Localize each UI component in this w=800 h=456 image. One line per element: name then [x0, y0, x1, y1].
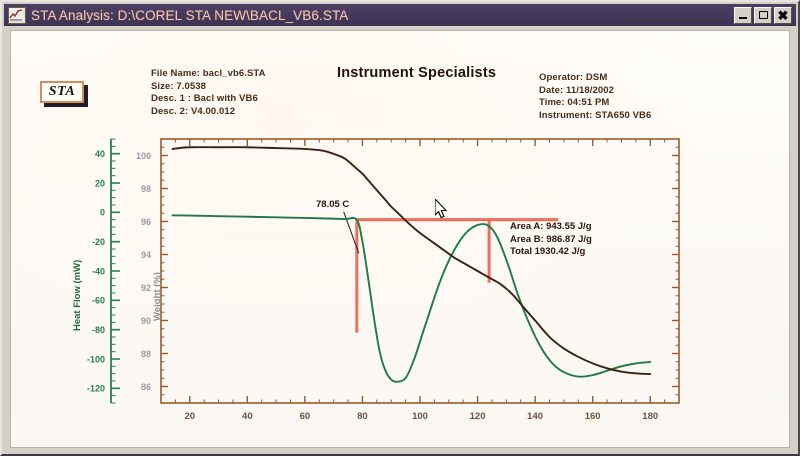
onset-temperature-label: 78.05 C [314, 199, 351, 212]
window-controls: ✖ [734, 7, 792, 24]
svg-text:20: 20 [95, 178, 105, 188]
svg-text:140: 140 [527, 411, 543, 422]
run-info-line-2: Date: 11/18/2002 [539, 85, 651, 98]
sta-logo-text: STA [49, 84, 75, 100]
minimize-icon [739, 17, 747, 19]
svg-text:96: 96 [141, 217, 151, 227]
report-canvas[interactable]: STA File Name: bacl_vb6.STA Size: 7.0538… [10, 30, 790, 448]
file-info-line-1: File Name: bacl_vb6.STA [151, 68, 266, 81]
svg-text:98: 98 [141, 184, 151, 194]
svg-text:180: 180 [642, 411, 658, 422]
svg-text:88: 88 [141, 349, 151, 359]
minimize-button[interactable] [734, 7, 752, 24]
svg-text:0: 0 [100, 208, 105, 218]
window-title: STA Analysis: D:\COREL STA NEW\BACL_VB6.… [31, 8, 734, 23]
svg-text:40: 40 [95, 149, 105, 159]
run-info-block: Operator: DSM Date: 11/18/2002 Time: 04:… [539, 72, 651, 122]
close-button[interactable]: ✖ [774, 7, 792, 24]
svg-text:100: 100 [136, 151, 151, 161]
svg-text:160: 160 [585, 411, 601, 422]
svg-text:100: 100 [412, 411, 428, 422]
svg-text:90: 90 [141, 316, 151, 326]
close-icon: ✖ [778, 9, 789, 22]
svg-text:-20: -20 [92, 237, 105, 247]
file-info-block: File Name: bacl_vb6.STA Size: 7.0538 Des… [151, 68, 266, 118]
svg-text:40: 40 [242, 411, 253, 422]
chart-app-icon [8, 7, 26, 24]
maximize-button[interactable] [754, 7, 772, 24]
file-info-line-4: Desc. 2: V4.00.012 [151, 106, 266, 119]
weight-axis-title: Weight (%) [152, 272, 163, 321]
file-info-line-3: Desc. 1 : Bacl with VB6 [151, 93, 266, 106]
svg-text:-60: -60 [92, 296, 105, 306]
svg-text:20: 20 [184, 411, 195, 422]
area-readout-block: Area A: 943.55 J/g Area B: 986.87 J/g To… [510, 221, 592, 259]
sta-analysis-window: STA Analysis: D:\COREL STA NEW\BACL_VB6.… [0, 0, 800, 456]
area-b-value: Area B: 986.87 J/g [510, 234, 592, 247]
svg-text:-40: -40 [92, 266, 105, 276]
area-a-value: Area A: 943.55 J/g [510, 221, 592, 234]
svg-text:94: 94 [141, 250, 151, 260]
report-title: Instrument Specialists [337, 65, 496, 81]
svg-text:92: 92 [141, 283, 151, 293]
file-info-line-2: Size: 7.0538 [151, 81, 266, 94]
sta-logo-face: STA [40, 81, 84, 103]
svg-text:60: 60 [300, 411, 311, 422]
run-info-line-4: Instrument: STA650 VB6 [539, 110, 651, 123]
area-total-value: Total 1930.42 J/g [510, 246, 592, 259]
svg-text:120: 120 [470, 411, 486, 422]
title-bar[interactable]: STA Analysis: D:\COREL STA NEW\BACL_VB6.… [4, 4, 796, 26]
run-info-line-1: Operator: DSM [539, 72, 651, 85]
svg-text:-100: -100 [87, 354, 105, 364]
sta-logo-badge: STA [40, 81, 88, 105]
heatflow-axis-title: Heat Flow (mW) [72, 260, 83, 331]
svg-text:-80: -80 [92, 325, 105, 335]
run-info-line-3: Time: 04:51 PM [539, 97, 651, 110]
svg-text:80: 80 [357, 411, 368, 422]
svg-text:86: 86 [141, 382, 151, 392]
maximize-icon [759, 11, 768, 19]
svg-text:-120: -120 [87, 384, 105, 394]
